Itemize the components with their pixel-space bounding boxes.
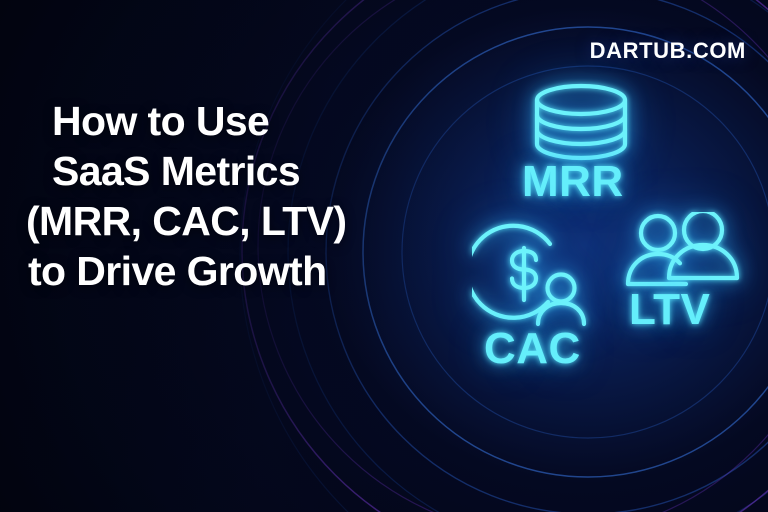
- headline-line-1: How to Use: [26, 96, 426, 146]
- headline-line-4: to Drive Growth: [26, 246, 426, 296]
- graphic-canvas: DARTUB.COM How to Use SaaS Metrics (MRR,…: [0, 0, 768, 512]
- users-group-icon: [622, 212, 744, 296]
- metric-label-ltv: LTV: [629, 288, 710, 332]
- dollar-circle-user-icon: [472, 222, 596, 332]
- headline-line-2: SaaS Metrics: [26, 146, 426, 196]
- metric-label-cac: CAC: [484, 327, 581, 371]
- headline-line-3: (MRR, CAC, LTV): [26, 196, 426, 246]
- brand-watermark: DARTUB.COM: [590, 38, 746, 64]
- database-icon: [523, 82, 639, 162]
- metric-label-mrr: MRR: [522, 160, 624, 204]
- page-title: How to Use SaaS Metrics (MRR, CAC, LTV) …: [26, 96, 426, 296]
